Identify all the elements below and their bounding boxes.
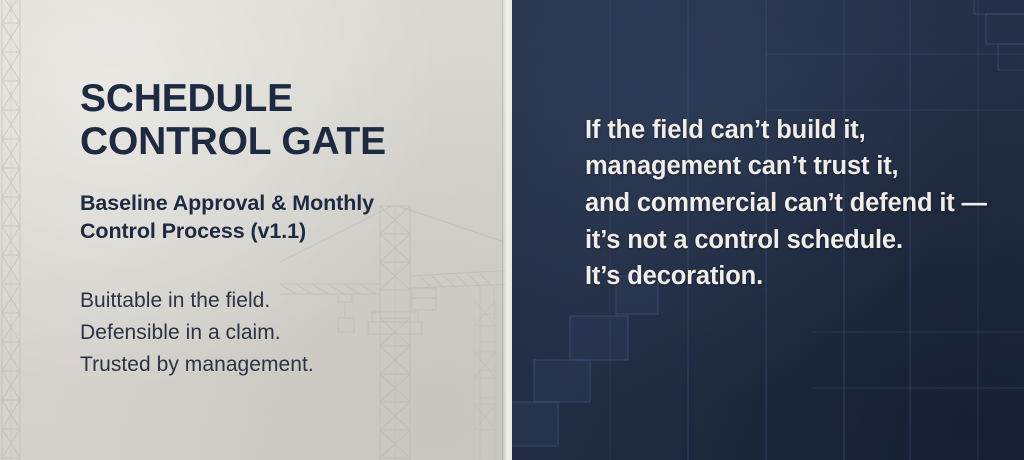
pull-quote-line-4: it’s not a control schedule.: [585, 222, 964, 259]
pull-quote-line-1: If the field can’t build it,: [585, 112, 964, 149]
page-title: SCHEDULE CONTROL GATE: [80, 78, 488, 164]
right-panel: If the field can’t build it, management …: [512, 0, 1024, 460]
pull-quote-line-5: It’s decoration.: [585, 258, 964, 295]
right-content: If the field can’t build it, management …: [512, 0, 1024, 295]
page-subtitle-line-2: Control Process (v1.1): [80, 218, 488, 246]
pull-quote: If the field can’t build it, management …: [585, 112, 964, 296]
page-title-line-2: CONTROL GATE: [80, 121, 488, 164]
pull-quote-line-3: and commercial can’t defend it —: [585, 185, 964, 222]
slide-canvas: SCHEDULE CONTROL GATE Baseline Approval …: [0, 0, 1024, 460]
page-subtitle: Baseline Approval & Monthly Control Proc…: [80, 190, 488, 245]
left-panel: SCHEDULE CONTROL GATE Baseline Approval …: [0, 0, 512, 460]
page-subtitle-line-1: Baseline Approval & Monthly: [80, 190, 488, 218]
tagline-line-3: Trusted by management.: [80, 349, 488, 381]
tagline-line-2: Defensible in a claim.: [80, 317, 488, 349]
page-title-line-1: SCHEDULE: [80, 78, 488, 121]
pull-quote-line-2: management can’t trust it,: [585, 148, 964, 185]
tagline-line-1: Buittable in the field.: [80, 285, 488, 317]
tagline-list: Buittable in the field. Defensible in a …: [80, 285, 488, 381]
left-content: SCHEDULE CONTROL GATE Baseline Approval …: [0, 0, 512, 381]
